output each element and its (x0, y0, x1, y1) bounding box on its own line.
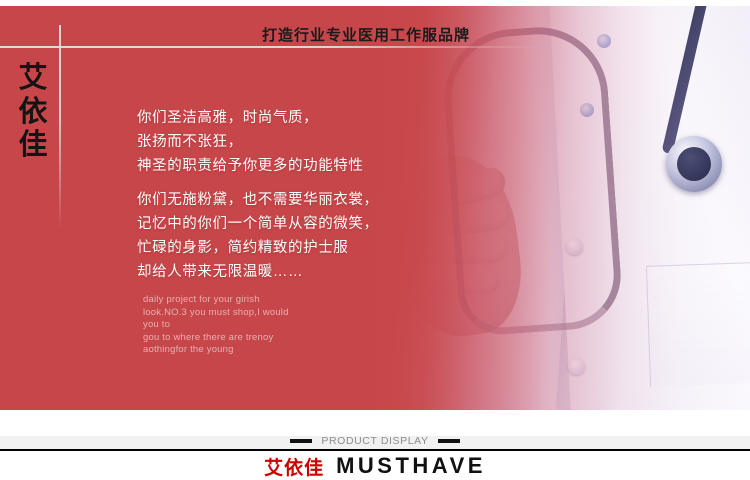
english-line: you to (143, 319, 289, 332)
dash-right-icon (438, 439, 460, 443)
brand-char: 佳 (16, 129, 50, 163)
poem-line: 你们无施粉黛，也不需要华丽衣裳， (137, 188, 379, 212)
photo-red-overlay (370, 6, 750, 410)
doctor-photo (370, 6, 750, 410)
horizontal-rule (0, 46, 540, 48)
product-display-header: PRODUCT DISPLAY (0, 433, 750, 449)
poem-line: 张扬而不张狂， (137, 130, 364, 154)
brand-char: 艾 (16, 62, 50, 96)
promo-banner: 打造行业专业医用工作服品牌 艾 依 佳 你们圣洁高雅，时尚气质， 张扬而不张狂，… (0, 6, 750, 410)
poem-line: 却给人带来无限温暖…… (137, 260, 379, 284)
english-line: look.NO.3 you must shop,I would (143, 307, 289, 320)
banner-headline: 打造行业专业医用工作服品牌 (262, 24, 470, 45)
english-line: aothingfor the young (143, 344, 289, 357)
brand-char: 依 (16, 96, 50, 130)
poem-line: 忙碌的身影，简约精致的护士服 (137, 236, 379, 260)
vertical-rule (59, 25, 61, 230)
logo-chinese-text: 艾依佳 (264, 453, 324, 480)
vertical-brand-name: 艾 依 佳 (16, 62, 50, 163)
english-line: daily project for your girish (143, 294, 289, 307)
poem-paragraph-two: 你们无施粉黛，也不需要华丽衣裳， 记忆中的你们一个简单从容的微笑， 忙碌的身影，… (137, 188, 379, 284)
product-display-label: PRODUCT DISPLAY (321, 435, 428, 447)
poem-paragraph-one: 你们圣洁高雅，时尚气质， 张扬而不张狂， 神圣的职责给予你更多的功能特性 (137, 106, 364, 178)
poem-line: 你们圣洁高雅，时尚气质， (137, 106, 364, 130)
english-tagline-block: daily project for your girish look.NO.3 … (143, 294, 289, 357)
logo-english-text: MUSTHAVE (336, 453, 486, 479)
english-line: gou to where there are trenoy (143, 332, 289, 345)
dash-left-icon (290, 439, 312, 443)
poem-line: 记忆中的你们一个简单从容的微笑， (137, 212, 379, 236)
brand-logo-row: 艾依佳 MUSTHAVE (0, 452, 750, 480)
poem-line: 神圣的职责给予你更多的功能特性 (137, 154, 364, 178)
